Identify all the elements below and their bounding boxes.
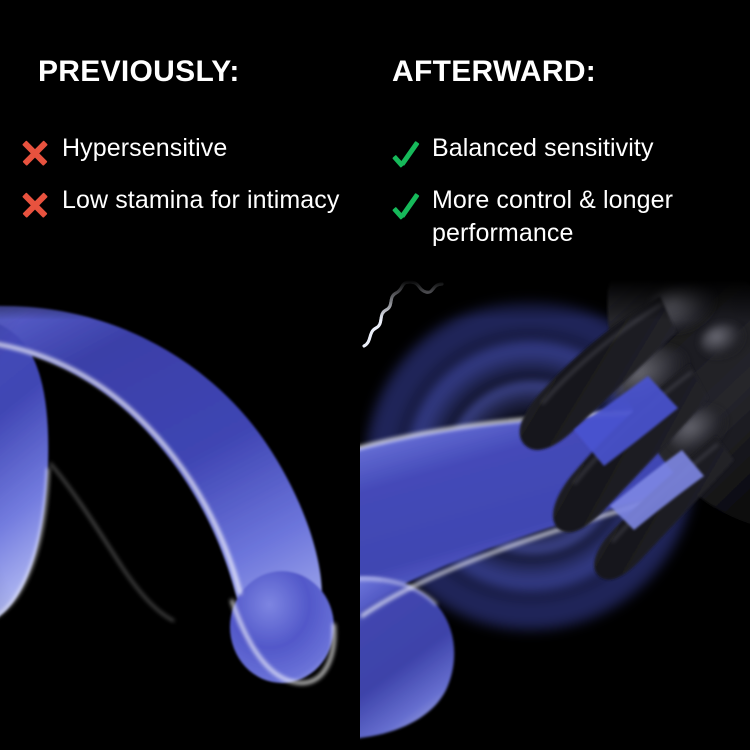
left-illustration <box>0 295 390 750</box>
x-icon <box>18 134 62 170</box>
list-item: Low stamina for intimacy <box>18 184 368 222</box>
right-illustration <box>360 280 750 750</box>
check-icon <box>388 186 432 222</box>
list-item-label: Balanced sensitivity <box>432 132 654 165</box>
right-base <box>360 577 454 740</box>
afterward-list: Balanced sensitivity More control & long… <box>388 132 738 264</box>
list-item: More control & longer performance <box>388 184 738 250</box>
left-tip <box>230 571 334 683</box>
list-item: Balanced sensitivity <box>388 132 738 170</box>
vibration-squiggle-2 <box>360 280 456 352</box>
list-item-label: Hypersensitive <box>62 132 227 165</box>
afterward-heading: AFTERWARD: <box>392 55 596 89</box>
list-item-label: Low stamina for intimacy <box>62 184 340 217</box>
ad-canvas: PREVIOUSLY: AFTERWARD: Hypersensitive Lo… <box>0 0 750 750</box>
check-icon <box>388 134 432 170</box>
previously-list: Hypersensitive Low stamina for intimacy <box>18 132 368 236</box>
x-icon <box>18 186 62 222</box>
list-item: Hypersensitive <box>18 132 368 170</box>
left-illustration-svg <box>0 295 390 750</box>
list-item-label: More control & longer performance <box>432 184 732 250</box>
previously-heading: PREVIOUSLY: <box>38 55 240 89</box>
